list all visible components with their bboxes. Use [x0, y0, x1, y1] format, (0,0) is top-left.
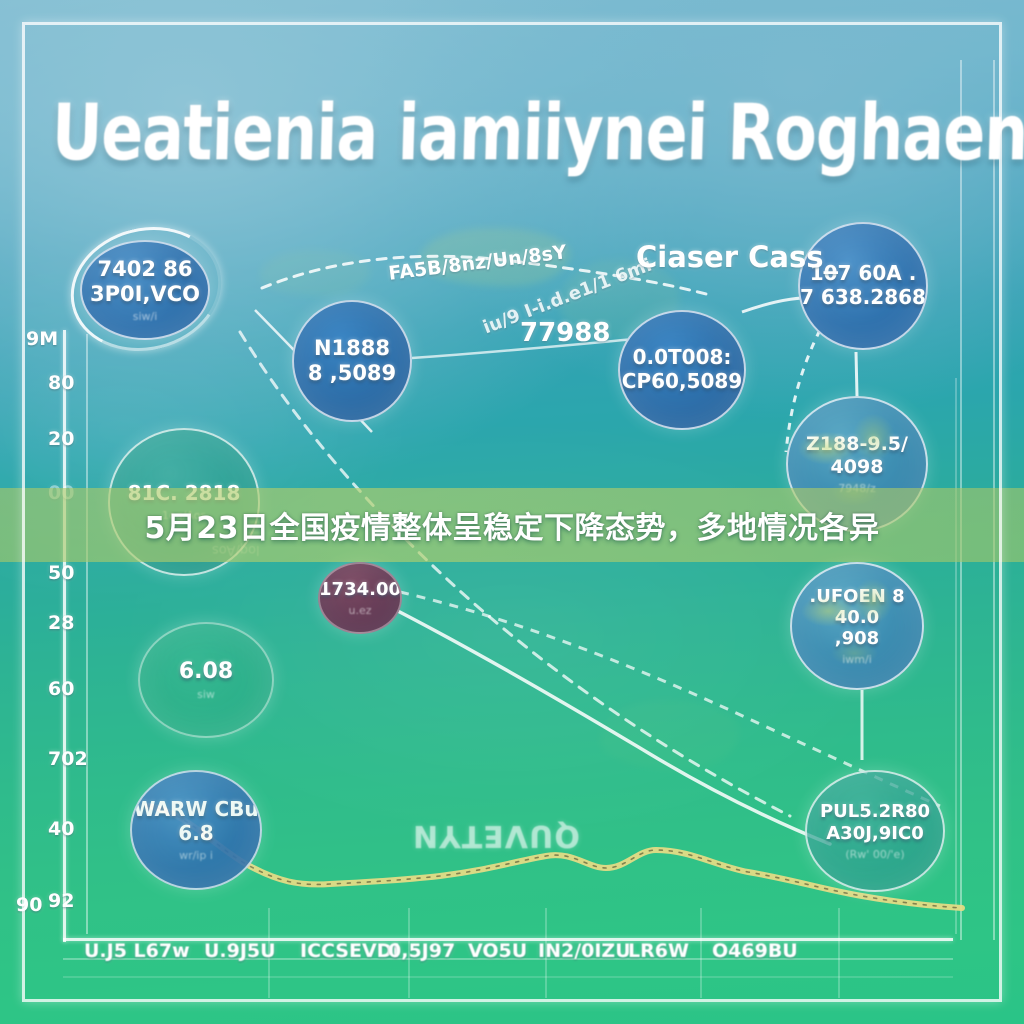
bubble-bottom-right-line1: PUL5.2R80 [820, 801, 930, 822]
bubble-mid-right-left-line2: CP60,5089 [622, 370, 742, 394]
bubble-right-globe-lower[interactable]: .UFOEN 8 40.0 ,908 iwm/i [790, 562, 924, 690]
bubble-upper-mid-line1: N1888 [314, 336, 390, 361]
chart-gridline [86, 334, 88, 934]
chart-gridline [955, 378, 957, 934]
chart-gridline [838, 908, 840, 998]
bubble-mid-right-left-line1: 0.0T008: [633, 346, 732, 370]
bubble-mid-right-left[interactable]: 0.0T008: CP60,5089 [618, 310, 746, 430]
bubble-left-green[interactable]: 6.08 siw [138, 622, 274, 738]
floating-label-chaser-cases: Ciaser Cass_ [636, 240, 838, 274]
x-tick-label: U.J5 L67w [84, 940, 190, 962]
bubble-upper-mid-line2: 8 ,5089 [308, 361, 396, 386]
map-blob-4 [600, 700, 740, 770]
bubble-top-left[interactable]: 7402 86 3P0I,VCO siw/i [80, 240, 210, 340]
poster-canvas: Ueatienia iamiiynei Roghaenciias imm (Ma… [0, 0, 1024, 1024]
y-tick-label: 92 [48, 890, 74, 912]
bubble-right-globe-lower-line2: ,908 [835, 628, 879, 649]
x-tick-label: ICCSEVDI [300, 940, 400, 962]
x-tick-label: U.9J5U [204, 940, 276, 962]
chart-tick-row [63, 976, 953, 978]
bubble-left-green-line1: 6.08 [179, 659, 233, 685]
bubble-right-globe-lower-sub: iwm/i [842, 653, 872, 666]
bubble-bottom-left-line1: WARW CBu 6.8 [132, 798, 260, 845]
bubble-globe-right-line1: Z188-9.5/ [806, 433, 908, 455]
bubble-globe-right-line2: 4098 [831, 456, 884, 478]
bubble-top-left-line2: 3P0I,VCO [90, 282, 200, 307]
bubble-center-maroon[interactable]: 1734.00 u.ez [318, 562, 402, 634]
y-tick-label: 60 [48, 678, 74, 700]
y-tick-label: 40 [48, 818, 74, 840]
map-blob-3 [260, 250, 370, 296]
chart-y-axis [63, 330, 66, 942]
y-tick-label: 28 [48, 612, 74, 634]
y-tick-label: 90 [16, 894, 42, 916]
bubble-center-maroon-line1: 1734.00 [319, 579, 401, 600]
bubble-top-left-line1: 7402 86 [98, 257, 193, 282]
bubble-bottom-right-sub: (Rw' 00/'e) [845, 848, 904, 861]
bubble-bottom-right[interactable]: PUL5.2R80 A30J,9IC0 (Rw' 00/'e) [805, 770, 945, 892]
chart-gridline [700, 908, 702, 998]
y-tick-label: 702 [48, 748, 88, 770]
bubble-left-green-sub: siw [197, 688, 215, 701]
curve-series-label: QUVETYN [412, 818, 580, 853]
poster-title: Ueatienia iamiiynei Roghaenciias imm (Ma… [51, 87, 954, 178]
bubble-top-left-sub: siw/i [133, 310, 158, 323]
bubble-center-maroon-sub: u.ez [348, 604, 371, 617]
bubble-bottom-right-line2: A30J,9IC0 [826, 823, 923, 844]
bubble-right-globe-lower-line1: .UFOEN 8 40.0 [792, 586, 922, 628]
x-tick-label: LR6W [628, 940, 689, 962]
bubble-bottom-left-sub: wr/ip i [179, 849, 213, 862]
y-tick-label: 20 [48, 428, 74, 450]
bubble-upper-right-line2: 7 638.2868 [800, 286, 926, 310]
bubble-upper-mid[interactable]: N1888 8 ,5089 [292, 300, 412, 422]
x-tick-label: IN2/0IZU [538, 940, 631, 962]
x-tick-label: 0,5J97 [388, 940, 455, 962]
x-tick-label: O469BU [712, 940, 798, 962]
floating-label-3: 77988 [520, 318, 610, 348]
y-tick-label: 50 [48, 562, 74, 584]
x-tick-label: VO5U [468, 940, 527, 962]
headline-title: 5月23日全国疫情整体呈稳定下降态势，多地情况各异 [0, 488, 1024, 562]
bubble-bottom-left[interactable]: WARW CBu 6.8 wr/ip i [130, 770, 262, 890]
y-tick-label: 9M [26, 328, 58, 350]
y-tick-label: 80 [48, 372, 74, 394]
